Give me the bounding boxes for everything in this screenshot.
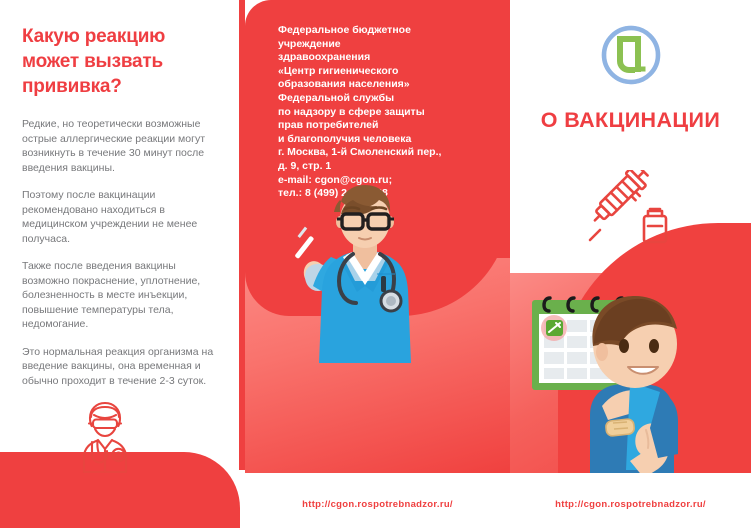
org-line: учреждение	[278, 38, 478, 52]
cgon-logo	[598, 22, 664, 88]
center-panel: Федеральное бюджетное учреждение здравоо…	[245, 0, 510, 473]
left-paragraph-2: Поэтому после вакцинации рекомендовано н…	[22, 188, 222, 246]
doctor-with-syringe-illustration	[285, 178, 445, 363]
left-panel-headline: Какую реакцию может вызвать прививка?	[22, 24, 222, 99]
left-panel-content: Какую реакцию может вызвать прививка? Ре…	[22, 24, 222, 401]
org-line: и благополучия человека	[278, 133, 478, 147]
page-title: О ВАКЦИНАЦИИ	[510, 108, 751, 133]
right-panel: О ВАКЦИНАЦИИ	[510, 0, 751, 473]
org-line: образования населения»	[278, 78, 478, 92]
brochure-page: Какую реакцию может вызвать прививка? Ре…	[0, 0, 751, 528]
left-paragraph-4: Это нормальная реакция организма на введ…	[22, 345, 222, 389]
left-panel: Какую реакцию может вызвать прививка? Ре…	[0, 0, 245, 528]
organization-text: Федеральное бюджетное учреждение здравоо…	[278, 24, 478, 201]
footer-url-center[interactable]: http://cgon.rospotrebnadzor.ru/	[245, 499, 510, 510]
org-line: здравоохранения	[278, 51, 478, 65]
left-paragraph-3: Также после введения вакцины возможно по…	[22, 259, 222, 332]
footer-url-right[interactable]: http://cgon.rospotrebnadzor.ru/	[510, 499, 751, 510]
doctor-outline-icon	[62, 398, 148, 478]
org-line: г. Москва, 1-й Смоленский пер.,	[278, 146, 478, 160]
org-line: Федеральное бюджетное	[278, 24, 478, 38]
org-line: д. 9, стр. 1	[278, 160, 478, 174]
org-line: по надзору в сфере защиты	[278, 106, 478, 120]
org-line: «Центр гигиенического	[278, 65, 478, 79]
syringe-and-vial-icon	[582, 170, 682, 256]
boy-with-bandage-and-calendar-illustration	[510, 272, 751, 473]
org-line: прав потребителей	[278, 119, 478, 133]
left-paragraph-1: Редкие, но теоретически возможные острые…	[22, 117, 222, 175]
org-line: Федеральной службы	[278, 92, 478, 106]
doctor-syringe	[294, 227, 314, 259]
